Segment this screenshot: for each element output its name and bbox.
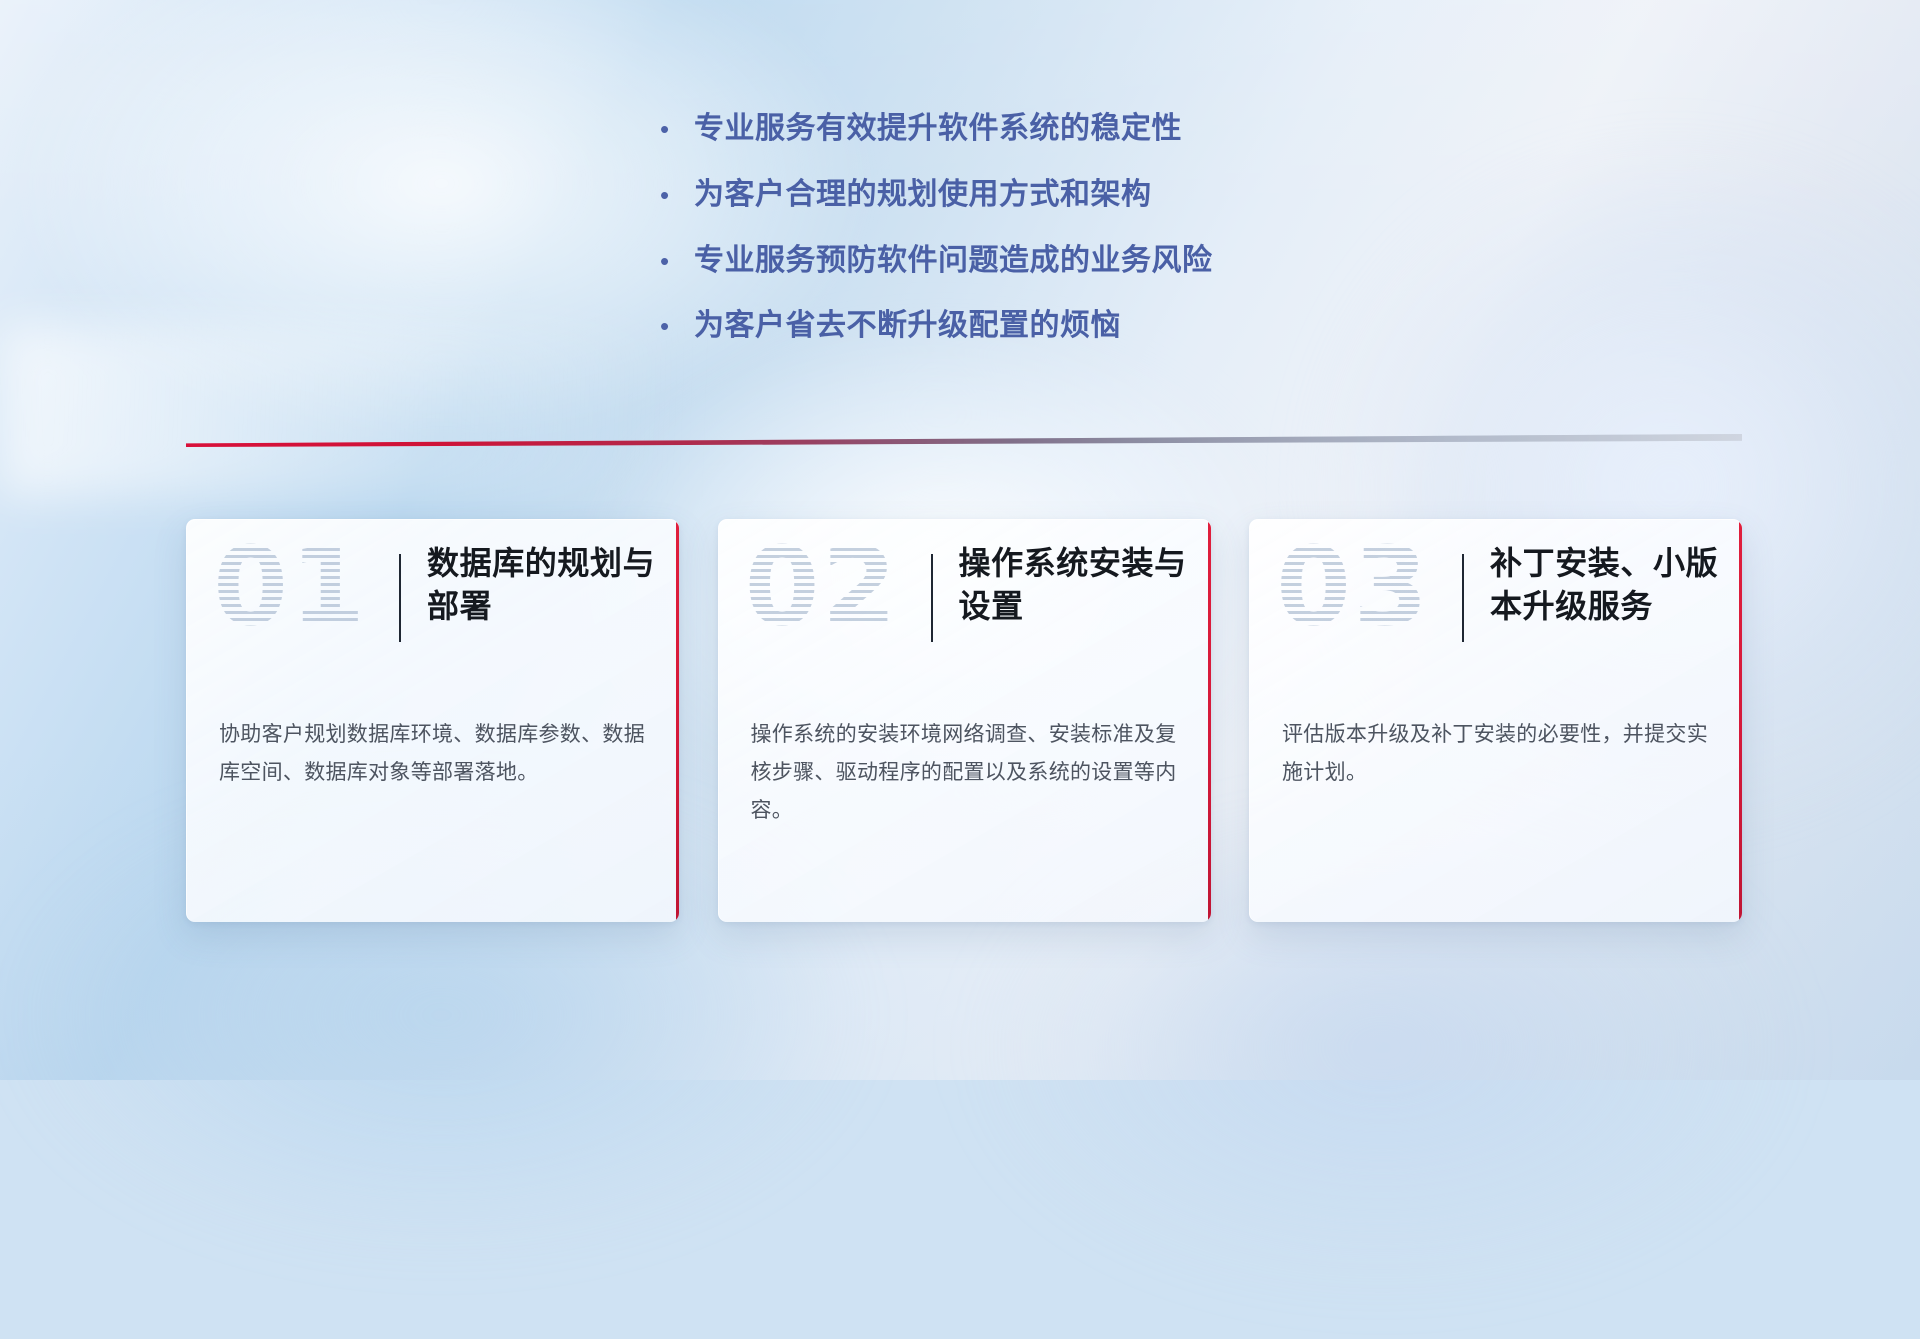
bullet-text: 专业服务有效提升软件系统的稳定性 xyxy=(694,110,1182,148)
list-item: • 专业服务有效提升软件系统的稳定性 xyxy=(660,110,1420,148)
card-title-divider xyxy=(931,554,933,642)
card-title: 数据库的规划与部署 xyxy=(427,542,657,628)
divider-sheen xyxy=(186,434,1742,447)
bullet-text: 为客户合理的规划使用方式和架构 xyxy=(694,176,1152,214)
benefits-bullet-list: • 专业服务有效提升软件系统的稳定性 • 为客户合理的规划使用方式和架构 • 专… xyxy=(660,110,1420,373)
card-header: 03 补丁安装、小版本升级服务 xyxy=(1250,520,1742,692)
service-card[interactable]: 02 操作系统安装与设置 操作系统的安装环境网络调查、安装标准及复核步骤、驱动程… xyxy=(718,519,1211,922)
card-number-watermark: 03 xyxy=(1276,534,1430,642)
card-title: 补丁安装、小版本升级服务 xyxy=(1490,542,1720,628)
service-card[interactable]: 03 补丁安装、小版本升级服务 评估版本升级及补丁安装的必要性，并提交实施计划。 xyxy=(1249,519,1742,922)
card-title-divider xyxy=(1462,554,1464,642)
bullet-marker-icon: • xyxy=(660,313,694,339)
list-item: • 专业服务预防软件问题造成的业务风险 xyxy=(660,242,1420,280)
card-body-text: 操作系统的安装环境网络调查、安装标准及复核步骤、驱动程序的配置以及系统的设置等内… xyxy=(751,716,1177,831)
list-item: • 为客户省去不断升级配置的烦恼 xyxy=(660,307,1420,345)
card-body-text: 协助客户规划数据库环境、数据库参数、数据库空间、数据库对象等部署落地。 xyxy=(219,716,645,792)
bullet-text: 专业服务预防软件问题造成的业务风险 xyxy=(694,242,1213,280)
card-number-watermark: 01 xyxy=(213,534,367,642)
section-divider xyxy=(186,434,1742,447)
bullet-marker-icon: • xyxy=(660,182,694,208)
service-card-list: 01 数据库的规划与部署 协助客户规划数据库环境、数据库参数、数据库空间、数据库… xyxy=(186,519,1742,921)
bullet-marker-icon: • xyxy=(660,116,694,142)
list-item: • 为客户合理的规划使用方式和架构 xyxy=(660,176,1420,214)
service-card[interactable]: 01 数据库的规划与部署 协助客户规划数据库环境、数据库参数、数据库空间、数据库… xyxy=(186,519,679,922)
bullet-marker-icon: • xyxy=(660,248,694,274)
card-header: 02 操作系统安装与设置 xyxy=(719,520,1211,692)
card-number-watermark: 02 xyxy=(745,534,899,642)
bullet-text: 为客户省去不断升级配置的烦恼 xyxy=(694,307,1121,345)
card-title-divider xyxy=(399,554,401,642)
card-header: 01 数据库的规划与部署 xyxy=(187,520,679,692)
card-body-text: 评估版本升级及补丁安装的必要性，并提交实施计划。 xyxy=(1282,716,1708,792)
card-title: 操作系统安装与设置 xyxy=(959,542,1189,628)
